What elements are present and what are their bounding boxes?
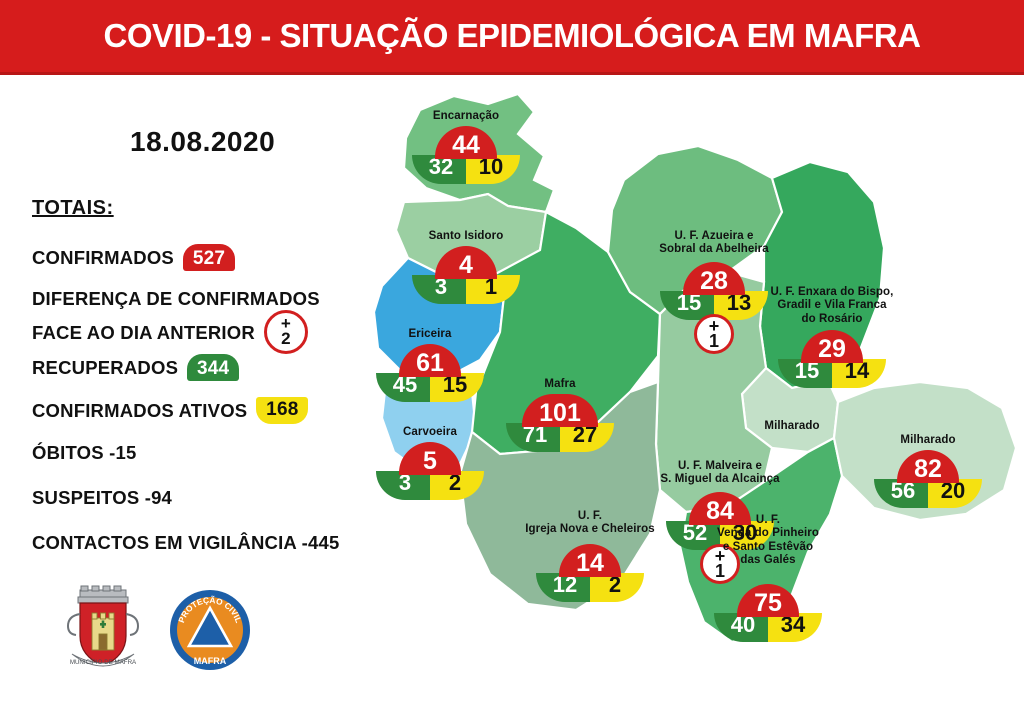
recovered-count: 3 bbox=[412, 275, 466, 304]
marker-bottom: 7127 bbox=[506, 423, 614, 452]
region-label-carvoeira: Carvoeira bbox=[403, 426, 457, 439]
active-count: 15 bbox=[430, 373, 484, 402]
region-marker-u-f-enxara-do-bispo-gradil-e-vila-franca: 291514 bbox=[778, 330, 886, 388]
stat-obitos-label: ÓBITOS - bbox=[32, 442, 116, 464]
region-label-u-f-malveira-e-s-miguel-da-alcainca: U. F. Malveira e S. Miguel da Alcainça bbox=[660, 460, 779, 487]
totals-heading: TOTAIS: bbox=[32, 197, 114, 220]
stat-contactos: CONTACTOS EM VIGILÂNCIA - 445 bbox=[32, 532, 339, 554]
confirmed-count: 61 bbox=[399, 344, 461, 377]
active-count: 14 bbox=[832, 359, 886, 388]
region-marker-u-f-azueira-e-sobral-da-abelheira: 281513+1 bbox=[660, 262, 768, 320]
stat-diferenca-label-line2: FACE AO DIA ANTERIOR bbox=[32, 321, 255, 344]
stat-ativos-label: CONFIRMADOS ATIVOS bbox=[32, 400, 247, 422]
stat-recuperados-label: RECUPERADOS bbox=[32, 357, 178, 379]
marker-bottom: 4034 bbox=[714, 613, 822, 642]
header-banner: COVID-19 - SITUAÇÃO EPIDEMIOLÓGICA EM MA… bbox=[0, 0, 1024, 75]
recovered-count: 71 bbox=[506, 423, 560, 452]
confirmed-count: 29 bbox=[801, 330, 863, 363]
active-count: 1 bbox=[466, 275, 520, 304]
delta-badge: +1 bbox=[694, 314, 734, 354]
confirmed-count: 44 bbox=[435, 126, 497, 159]
region-label-u-f-igreja-nova-e-cheleiros: U. F. Igreja Nova e Cheleiros bbox=[525, 510, 655, 537]
confirmed-count: 5 bbox=[399, 442, 461, 475]
stat-diferenca-line2: FACE AO DIA ANTERIOR + 2 bbox=[32, 310, 308, 354]
stat-confirmados-value: 527 bbox=[183, 244, 235, 271]
recovered-count: 3 bbox=[376, 471, 430, 500]
region-marker-u-f-venda-do-pinheiro-e-santo-estevao-da: 754034 bbox=[714, 584, 822, 642]
stat-suspeitos-label: SUSPEITOS - bbox=[32, 487, 151, 509]
totals-panel: 18.08.2020 TOTAIS: CONFIRMADOS 527 DIFER… bbox=[0, 72, 380, 724]
region-marker-carvoeira: 532 bbox=[376, 442, 484, 500]
region-label-u-f-enxara-do-bispo-gradil-e-vila-franca: U. F. Enxara do Bispo, Gradil e Vila Fra… bbox=[771, 286, 894, 326]
protecao-civil-mafra-logo: PROTEÇÃO CIVIL MAFRA bbox=[168, 588, 252, 672]
marker-bottom: 4515 bbox=[376, 373, 484, 402]
marker-bottom: 31 bbox=[412, 275, 520, 304]
active-count: 27 bbox=[560, 423, 614, 452]
stat-diferenca-badge: + 2 bbox=[264, 310, 308, 354]
region-marker-u-f-igreja-nova-e-cheleiros: 14122 bbox=[536, 544, 644, 602]
recovered-count: 45 bbox=[376, 373, 430, 402]
stat-recuperados: RECUPERADOS 344 bbox=[32, 354, 239, 381]
stat-suspeitos: SUSPEITOS - 94 bbox=[32, 487, 172, 509]
region-label-u-f-azueira-e-sobral-da-abelheira: U. F. Azueira e Sobral da Abelheira bbox=[659, 230, 768, 257]
protecao-civil-mafra-text: MAFRA bbox=[194, 656, 227, 666]
region-label-milharado-west: Milharado bbox=[764, 420, 819, 433]
marker-bottom: 1514 bbox=[778, 359, 886, 388]
region-label-mafra: Mafra bbox=[544, 378, 575, 391]
active-count: 34 bbox=[768, 613, 822, 642]
mafra-municipality-map: Encarnação443210Santo Isidoro431Ericeira… bbox=[368, 82, 1024, 702]
stat-obitos: ÓBITOS - 15 bbox=[32, 442, 136, 464]
recovered-count: 15 bbox=[778, 359, 832, 388]
stat-confirmados: CONFIRMADOS 527 bbox=[32, 244, 235, 271]
municipio-logo-text: MUNICÍPIO DE MAFRA bbox=[70, 659, 137, 666]
region-marker-milharado: 825620 bbox=[874, 450, 982, 508]
confirmed-count: 101 bbox=[522, 394, 598, 427]
recovered-count: 40 bbox=[714, 613, 768, 642]
region-marker-encarnacao: 443210 bbox=[412, 126, 520, 184]
active-count: 2 bbox=[430, 471, 484, 500]
confirmed-count: 14 bbox=[559, 544, 621, 577]
stat-obitos-value: 15 bbox=[116, 442, 137, 464]
stat-diferenca: DIFERENÇA DE CONFIRMADOS FACE AO DIA ANT… bbox=[32, 287, 320, 354]
active-count: 10 bbox=[466, 155, 520, 184]
logos-row: MUNICÍPIO DE MAFRA PROTEÇÃO CIVIL MAFRA bbox=[60, 584, 260, 689]
stat-contactos-label: CONTACTOS EM VIGILÂNCIA - bbox=[32, 532, 308, 554]
stat-diferenca-value: 2 bbox=[281, 332, 291, 347]
delta-value: 1 bbox=[709, 334, 719, 349]
confirmed-count: 28 bbox=[683, 262, 745, 295]
stat-contactos-value: 445 bbox=[308, 532, 339, 554]
stat-ativos: CONFIRMADOS ATIVOS 168 bbox=[32, 397, 308, 424]
recovered-count: 56 bbox=[874, 479, 928, 508]
marker-bottom: 3210 bbox=[412, 155, 520, 184]
region-label-santo-isidoro: Santo Isidoro bbox=[429, 230, 504, 243]
stat-confirmados-label: CONFIRMADOS bbox=[32, 247, 174, 269]
confirmed-count: 75 bbox=[737, 584, 799, 617]
region-label-u-f-venda-do-pinheiro-e-santo-estevao-da: U. F. Venda do Pinheiro e Santo Estêvão … bbox=[717, 514, 819, 567]
report-date: 18.08.2020 bbox=[130, 126, 275, 158]
recovered-count: 12 bbox=[536, 573, 590, 602]
region-label-ericeira: Ericeira bbox=[409, 328, 452, 341]
page-title: COVID-19 - SITUAÇÃO EPIDEMIOLÓGICA EM MA… bbox=[104, 17, 921, 55]
marker-bottom: 122 bbox=[536, 573, 644, 602]
marker-bottom: 5620 bbox=[874, 479, 982, 508]
active-count: 2 bbox=[590, 573, 644, 602]
municipio-de-mafra-logo: MUNICÍPIO DE MAFRA bbox=[60, 584, 146, 676]
confirmed-count: 4 bbox=[435, 246, 497, 279]
region-label-encarnacao: Encarnação bbox=[433, 110, 499, 123]
region-marker-ericeira: 614515 bbox=[376, 344, 484, 402]
stat-suspeitos-value: 94 bbox=[151, 487, 172, 509]
confirmed-count: 82 bbox=[897, 450, 959, 483]
region-marker-santo-isidoro: 431 bbox=[412, 246, 520, 304]
stat-recuperados-value: 344 bbox=[187, 354, 239, 381]
stat-diferenca-label-line1: DIFERENÇA DE CONFIRMADOS bbox=[32, 287, 320, 310]
stat-ativos-value: 168 bbox=[256, 397, 308, 424]
recovered-count: 32 bbox=[412, 155, 466, 184]
marker-bottom: 32 bbox=[376, 471, 484, 500]
region-label-milharado: Milharado bbox=[900, 434, 955, 447]
active-count: 20 bbox=[928, 479, 982, 508]
region-marker-mafra: 1017127 bbox=[506, 394, 614, 452]
